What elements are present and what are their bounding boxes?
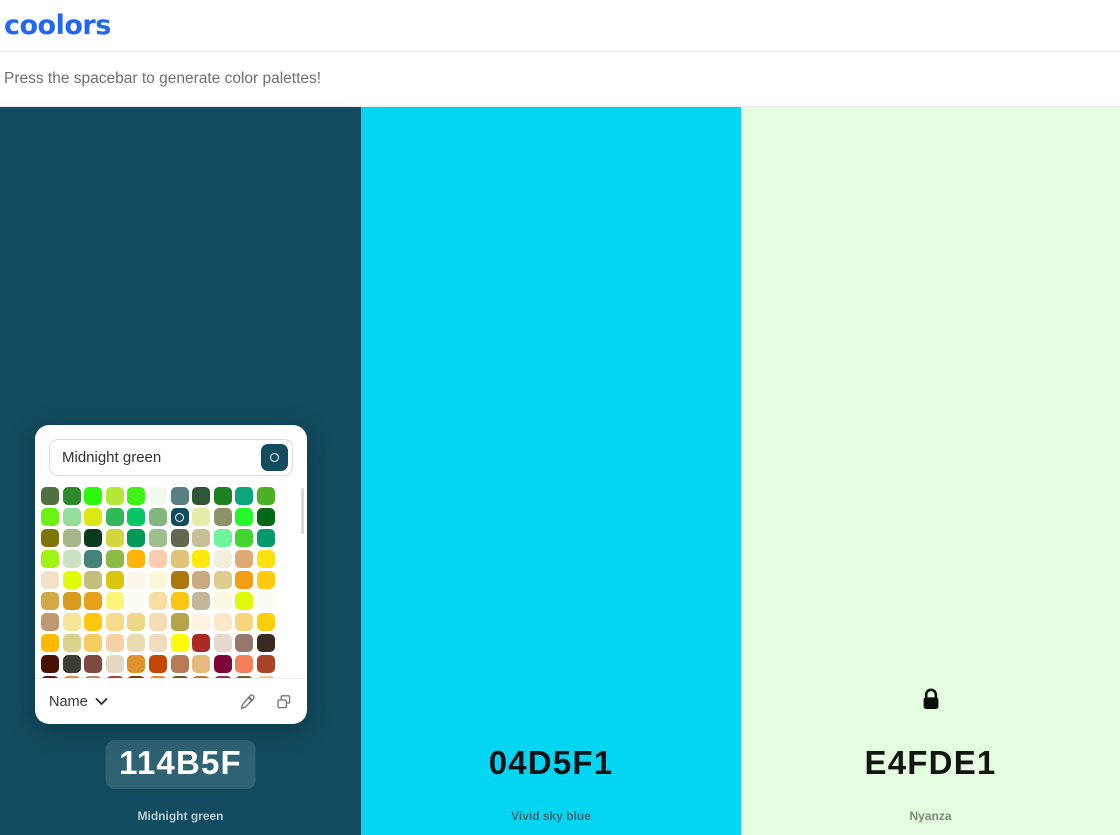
- color-swatch[interactable]: [214, 487, 232, 505]
- color-swatch[interactable]: [63, 508, 81, 526]
- color-swatch[interactable]: [235, 529, 253, 547]
- color-swatch[interactable]: [127, 550, 145, 568]
- color-swatch[interactable]: [171, 529, 189, 547]
- color-swatch[interactable]: [41, 634, 59, 652]
- color-swatch[interactable]: [192, 634, 210, 652]
- color-swatch[interactable]: [84, 634, 102, 652]
- color-swatch[interactable]: [192, 613, 210, 631]
- color-swatch[interactable]: [106, 592, 124, 610]
- palette-column-2[interactable]: 04D5F1 Vivid sky blue: [361, 107, 741, 835]
- color-swatch[interactable]: [63, 571, 81, 589]
- color-swatch[interactable]: [192, 655, 210, 673]
- color-swatch[interactable]: [149, 487, 167, 505]
- color-swatch[interactable]: [235, 655, 253, 673]
- color-swatch[interactable]: [171, 655, 189, 673]
- picker-footer: Name: [35, 678, 307, 724]
- color-swatch[interactable]: [214, 655, 232, 673]
- color-swatch[interactable]: [214, 634, 232, 652]
- color-swatch[interactable]: [63, 550, 81, 568]
- footer-icon-group: [239, 693, 293, 711]
- color-swatch[interactable]: [235, 634, 253, 652]
- color-swatch[interactable]: [257, 571, 275, 589]
- lock-closed-icon[interactable]: [920, 687, 942, 713]
- palette-strip: 114B5F Midnight green 04D5F1 Vivid sky b…: [0, 107, 1120, 835]
- color-swatch[interactable]: [235, 676, 253, 678]
- color-swatch[interactable]: [63, 655, 81, 673]
- color-swatch[interactable]: [235, 613, 253, 631]
- color-swatch[interactable]: [192, 676, 210, 678]
- color-swatch[interactable]: [84, 655, 102, 673]
- color-swatch[interactable]: [41, 655, 59, 673]
- color-swatch[interactable]: [149, 676, 167, 678]
- color-grid[interactable]: [41, 487, 307, 678]
- color-swatch[interactable]: [171, 634, 189, 652]
- color-swatch[interactable]: [106, 529, 124, 547]
- color-swatch[interactable]: [192, 487, 210, 505]
- color-swatch[interactable]: [106, 634, 124, 652]
- hex-label-wrap-1: 114B5F: [105, 740, 256, 789]
- color-swatch[interactable]: [192, 529, 210, 547]
- color-swatch[interactable]: [214, 508, 232, 526]
- selected-ring-icon: [175, 513, 184, 522]
- mode-select-label: Name: [49, 694, 88, 710]
- eyedropper-icon[interactable]: [239, 693, 257, 711]
- color-swatch[interactable]: [106, 571, 124, 589]
- hex-code-2[interactable]: 04D5F1: [475, 740, 628, 789]
- color-swatch[interactable]: [171, 592, 189, 610]
- color-swatch[interactable]: [149, 613, 167, 631]
- color-swatch[interactable]: [192, 571, 210, 589]
- color-swatch[interactable]: [127, 529, 145, 547]
- color-swatch[interactable]: [257, 655, 275, 673]
- color-swatch[interactable]: [171, 487, 189, 505]
- color-swatch[interactable]: [149, 571, 167, 589]
- color-picker-popup[interactable]: Name: [35, 425, 307, 724]
- color-swatch[interactable]: [63, 613, 81, 631]
- color-grid-scroll[interactable]: [35, 482, 307, 678]
- current-color-swatch[interactable]: [261, 444, 288, 471]
- color-swatch[interactable]: [41, 613, 59, 631]
- color-swatch[interactable]: [257, 592, 275, 610]
- color-swatch[interactable]: [149, 655, 167, 673]
- color-swatch[interactable]: [257, 550, 275, 568]
- color-swatch[interactable]: [235, 487, 253, 505]
- selected-ring-icon: [270, 453, 279, 462]
- coolors-logo[interactable]: coolors: [4, 10, 111, 41]
- color-swatch[interactable]: [171, 613, 189, 631]
- color-swatch[interactable]: [63, 487, 81, 505]
- color-swatch[interactable]: [171, 676, 189, 678]
- color-swatch[interactable]: [41, 508, 59, 526]
- color-swatch[interactable]: [84, 529, 102, 547]
- color-swatch[interactable]: [106, 487, 124, 505]
- color-swatch[interactable]: [171, 571, 189, 589]
- color-swatch[interactable]: [235, 508, 253, 526]
- color-swatch[interactable]: [63, 676, 81, 678]
- hex-code-1[interactable]: 114B5F: [105, 740, 256, 789]
- palette-column-3[interactable]: E4FDE1 Nyanza: [741, 107, 1120, 835]
- color-swatch[interactable]: [149, 508, 167, 526]
- color-swatch[interactable]: [192, 550, 210, 568]
- color-swatch[interactable]: [257, 529, 275, 547]
- color-swatch[interactable]: [41, 529, 59, 547]
- color-swatch[interactable]: [257, 508, 275, 526]
- color-swatch[interactable]: [235, 550, 253, 568]
- color-swatch[interactable]: [41, 571, 59, 589]
- color-swatch[interactable]: [84, 592, 102, 610]
- color-swatch[interactable]: [127, 571, 145, 589]
- spacebar-hint-text: Press the spacebar to generate color pal…: [4, 70, 321, 88]
- color-swatch[interactable]: [106, 613, 124, 631]
- color-swatch[interactable]: [106, 655, 124, 673]
- grid-scrollbar[interactable]: [301, 488, 304, 534]
- hex-code-3[interactable]: E4FDE1: [851, 740, 1011, 789]
- color-swatch[interactable]: [106, 550, 124, 568]
- color-swatch[interactable]: [106, 676, 124, 678]
- color-swatch[interactable]: [149, 634, 167, 652]
- color-swatch[interactable]: [127, 655, 145, 673]
- color-swatch[interactable]: [127, 487, 145, 505]
- picker-header: [35, 425, 307, 482]
- color-swatch[interactable]: [171, 550, 189, 568]
- color-swatch[interactable]: [84, 508, 102, 526]
- color-swatch[interactable]: [149, 550, 167, 568]
- chevron-down-icon: [95, 694, 108, 710]
- color-swatch[interactable]: [257, 634, 275, 652]
- color-swatch[interactable]: [127, 508, 145, 526]
- color-swatch[interactable]: [214, 571, 232, 589]
- color-swatch[interactable]: [192, 508, 210, 526]
- color-swatch[interactable]: [214, 613, 232, 631]
- color-swatch[interactable]: [41, 592, 59, 610]
- color-swatch[interactable]: [214, 550, 232, 568]
- color-swatch[interactable]: [214, 529, 232, 547]
- hint-bar: Press the spacebar to generate color pal…: [0, 52, 1120, 107]
- color-swatch[interactable]: [84, 613, 102, 631]
- color-swatch[interactable]: [214, 676, 232, 678]
- color-swatch[interactable]: [257, 487, 275, 505]
- color-swatch[interactable]: [257, 676, 275, 678]
- color-swatch[interactable]: [149, 592, 167, 610]
- color-swatch[interactable]: [63, 529, 81, 547]
- color-name-2: Vivid sky blue: [511, 809, 591, 823]
- hex-label-wrap-2: 04D5F1: [475, 740, 628, 789]
- color-swatch[interactable]: [84, 571, 102, 589]
- color-name-input[interactable]: [62, 449, 261, 466]
- color-swatch[interactable]: [235, 592, 253, 610]
- color-swatch[interactable]: [127, 592, 145, 610]
- copy-icon[interactable]: [275, 693, 293, 711]
- color-name-3: Nyanza: [909, 809, 951, 823]
- color-swatch[interactable]: [235, 571, 253, 589]
- color-swatch[interactable]: [171, 508, 189, 526]
- color-name-1: Midnight green: [138, 809, 224, 823]
- color-swatch[interactable]: [84, 487, 102, 505]
- color-swatch[interactable]: [41, 487, 59, 505]
- color-swatch[interactable]: [84, 550, 102, 568]
- top-bar: coolors: [0, 0, 1120, 52]
- color-swatch[interactable]: [257, 613, 275, 631]
- color-swatch[interactable]: [41, 676, 59, 678]
- color-swatch[interactable]: [149, 529, 167, 547]
- color-swatch[interactable]: [63, 592, 81, 610]
- color-swatch[interactable]: [41, 550, 59, 568]
- color-swatch[interactable]: [127, 613, 145, 631]
- color-swatch[interactable]: [127, 634, 145, 652]
- color-swatch[interactable]: [106, 508, 124, 526]
- hex-label-wrap-3: E4FDE1: [851, 740, 1011, 789]
- color-name-field[interactable]: [49, 439, 293, 476]
- color-swatch[interactable]: [192, 592, 210, 610]
- mode-select-dropdown[interactable]: Name: [49, 694, 108, 710]
- color-swatch[interactable]: [63, 634, 81, 652]
- color-swatch[interactable]: [127, 676, 145, 678]
- color-swatch[interactable]: [84, 676, 102, 678]
- color-swatch[interactable]: [214, 592, 232, 610]
